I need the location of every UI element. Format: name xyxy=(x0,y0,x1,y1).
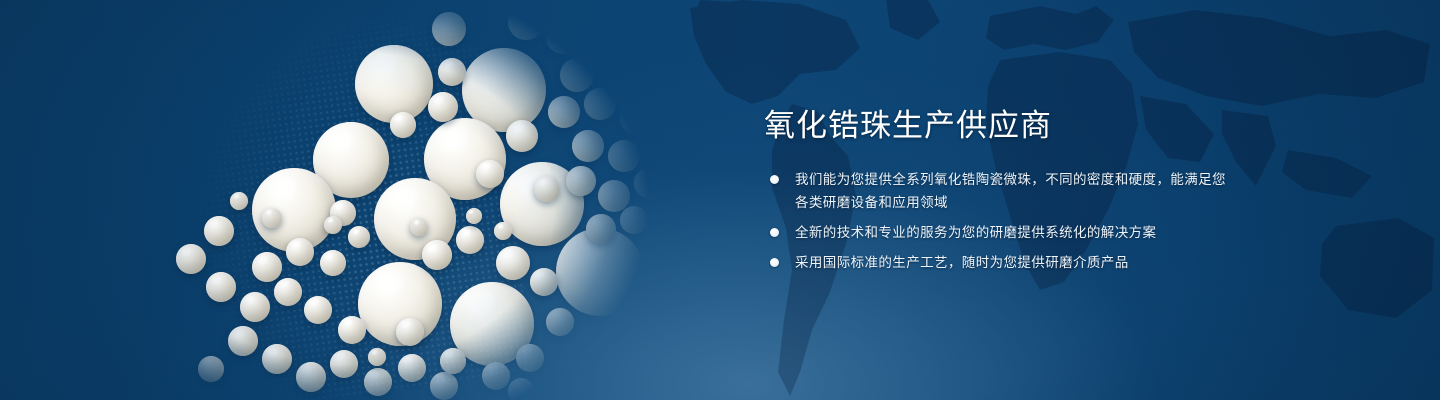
bullet-dot-icon xyxy=(770,175,779,184)
banner-copy: 氧化锆珠生产供应商 我们能为您提供全系列氧化锆陶瓷微珠，不同的密度和硬度，能满足… xyxy=(764,104,1234,274)
list-item: 全新的技术和专业的服务为您的研磨提供系统化的解决方案 xyxy=(770,221,1234,244)
banner-headline: 氧化锆珠生产供应商 xyxy=(764,104,1234,148)
bullet-text: 我们能为您提供全系列氧化锆陶瓷微珠，不同的密度和硬度，能满足您各类研磨设备和应用… xyxy=(795,172,1226,210)
bullet-dot-icon xyxy=(770,228,779,237)
bullet-dot-icon xyxy=(770,258,779,267)
bullet-text: 全新的技术和专业的服务为您的研磨提供系统化的解决方案 xyxy=(795,225,1156,240)
bullet-text: 采用国际标准的生产工艺，随时为您提供研磨介质产品 xyxy=(795,255,1129,270)
list-item: 我们能为您提供全系列氧化锆陶瓷微珠，不同的密度和硬度，能满足您各类研磨设备和应用… xyxy=(770,168,1234,214)
hero-banner: 氧化锆珠生产供应商 我们能为您提供全系列氧化锆陶瓷微珠，不同的密度和硬度，能满足… xyxy=(0,0,1440,400)
list-item: 采用国际标准的生产工艺，随时为您提供研磨介质产品 xyxy=(770,251,1234,274)
banner-bullet-list: 我们能为您提供全系列氧化锆陶瓷微珠，不同的密度和硬度，能满足您各类研磨设备和应用… xyxy=(770,168,1234,274)
